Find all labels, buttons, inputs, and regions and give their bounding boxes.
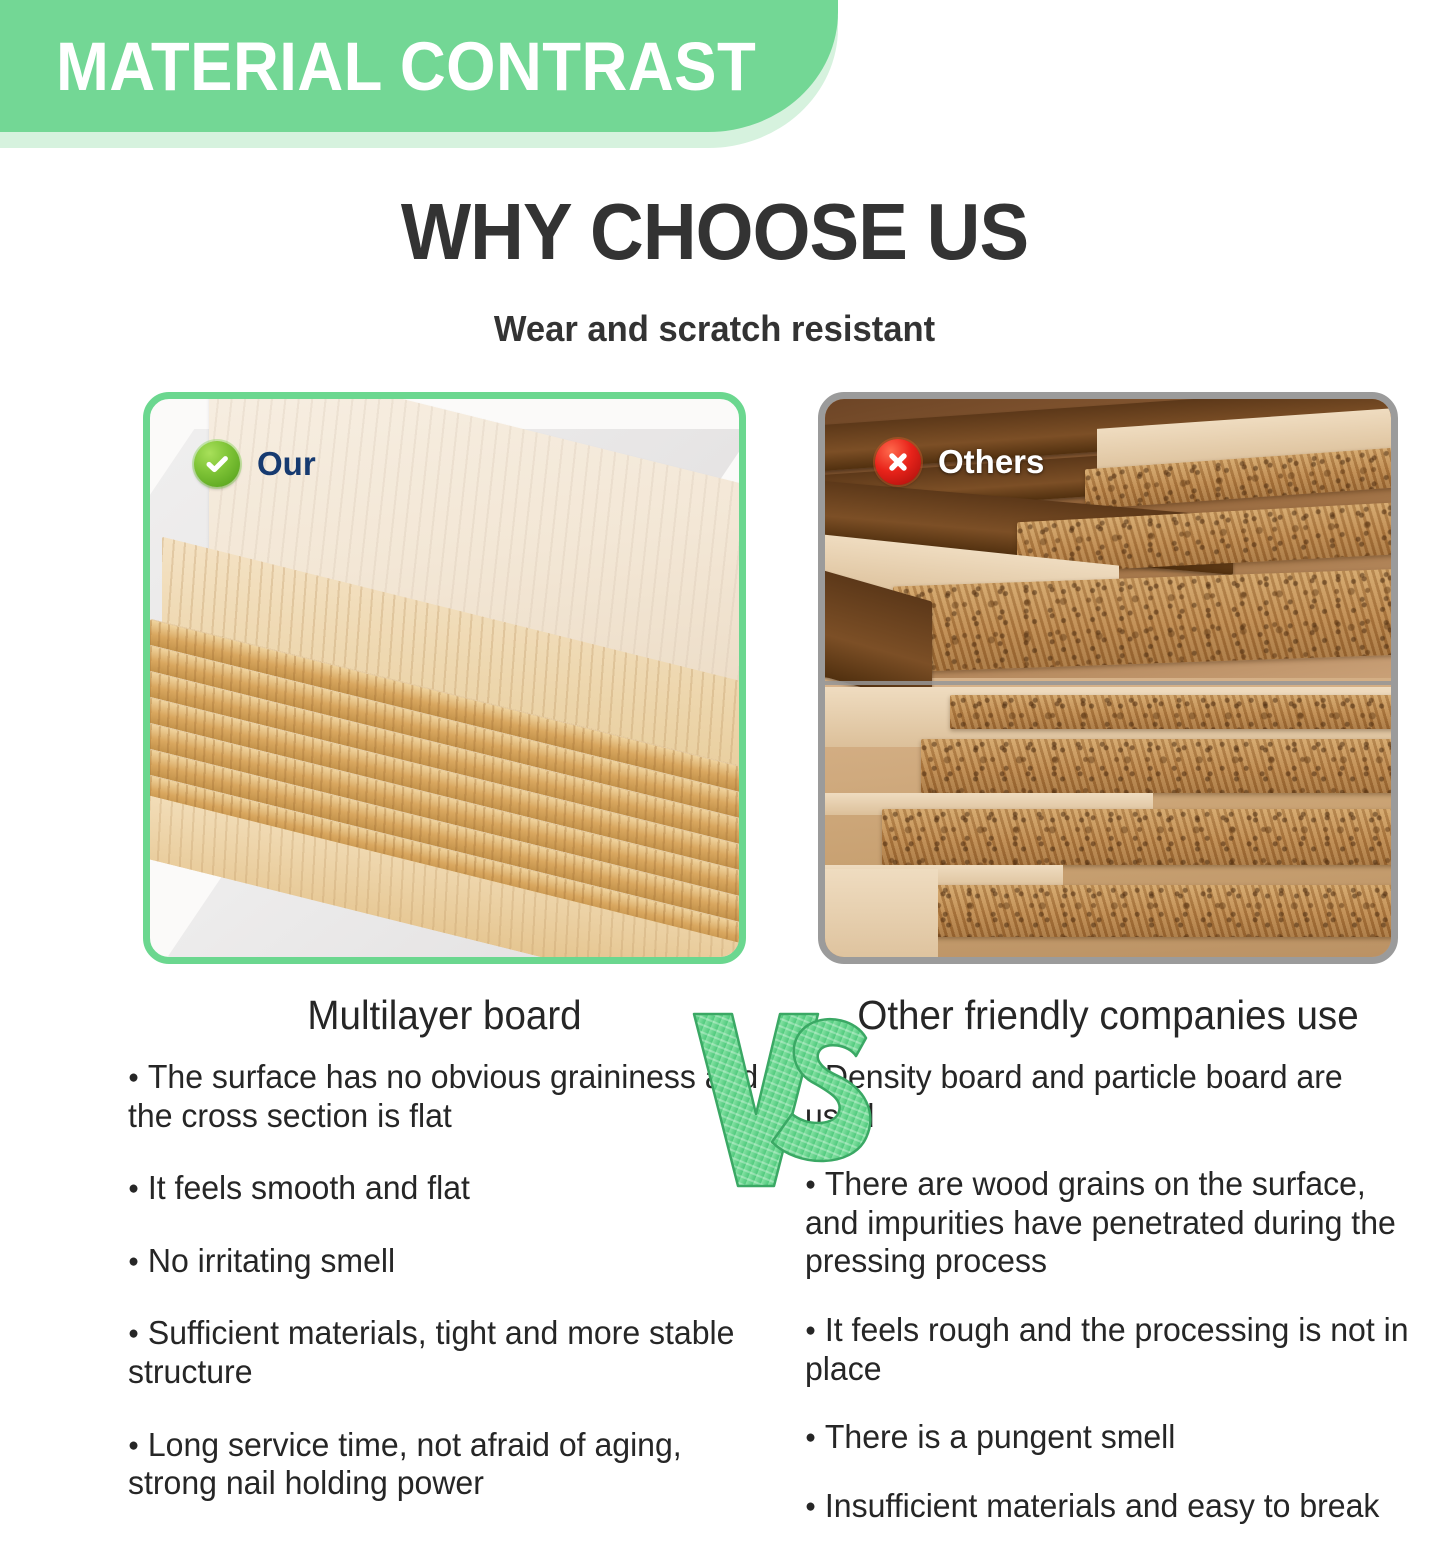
list-item: Sufficient materials, tight and more sta… bbox=[128, 1314, 759, 1391]
panel-our: Our bbox=[143, 392, 746, 964]
red-x-circle-icon bbox=[875, 439, 921, 485]
panel-others: Others bbox=[818, 392, 1398, 964]
badge-our-label: Our bbox=[257, 445, 316, 483]
badge-others: Others bbox=[875, 439, 1044, 485]
image-seam-divider bbox=[825, 681, 1391, 685]
caption-our: Multilayer board bbox=[161, 992, 728, 1039]
list-item: Density board and particle board are use… bbox=[805, 1058, 1411, 1135]
list-item: Long service time, not afraid of aging, … bbox=[128, 1426, 759, 1503]
badge-our: Our bbox=[194, 441, 316, 487]
list-item: It feels smooth and flat bbox=[128, 1169, 759, 1208]
header-banner: MATERIAL CONTRAST bbox=[0, 0, 900, 160]
list-item: There is a pungent smell bbox=[805, 1418, 1411, 1457]
list-item: The surface has no obvious graininess an… bbox=[128, 1058, 759, 1135]
list-item: It feels rough and the processing is not… bbox=[805, 1311, 1411, 1388]
board-slab-chip bbox=[893, 568, 1391, 673]
bullet-list-our: The surface has no obvious graininess an… bbox=[128, 1058, 778, 1537]
board-slab-chip bbox=[921, 739, 1391, 793]
bullet-list-others: Density board and particle board are use… bbox=[805, 1058, 1429, 1555]
board-slab-chip bbox=[882, 809, 1391, 865]
green-check-circle-icon bbox=[194, 441, 240, 487]
comparison-panels: Our bbox=[0, 392, 1429, 970]
header-banner-shape: MATERIAL CONTRAST bbox=[0, 0, 838, 132]
banner-title: MATERIAL CONTRAST bbox=[56, 27, 756, 106]
list-item: There are wood grains on the surface, an… bbox=[805, 1165, 1411, 1281]
board-edge-light bbox=[825, 869, 938, 957]
caption-others: Other friendly companies use bbox=[835, 992, 1380, 1039]
badge-others-label: Others bbox=[938, 443, 1044, 481]
list-item: No irritating smell bbox=[128, 1242, 759, 1281]
page-title: WHY CHOOSE US bbox=[50, 186, 1379, 278]
board-slab-chip bbox=[950, 695, 1391, 729]
list-item: Insufficient materials and easy to break bbox=[805, 1487, 1411, 1526]
page-subtitle: Wear and scratch resistant bbox=[29, 308, 1401, 350]
